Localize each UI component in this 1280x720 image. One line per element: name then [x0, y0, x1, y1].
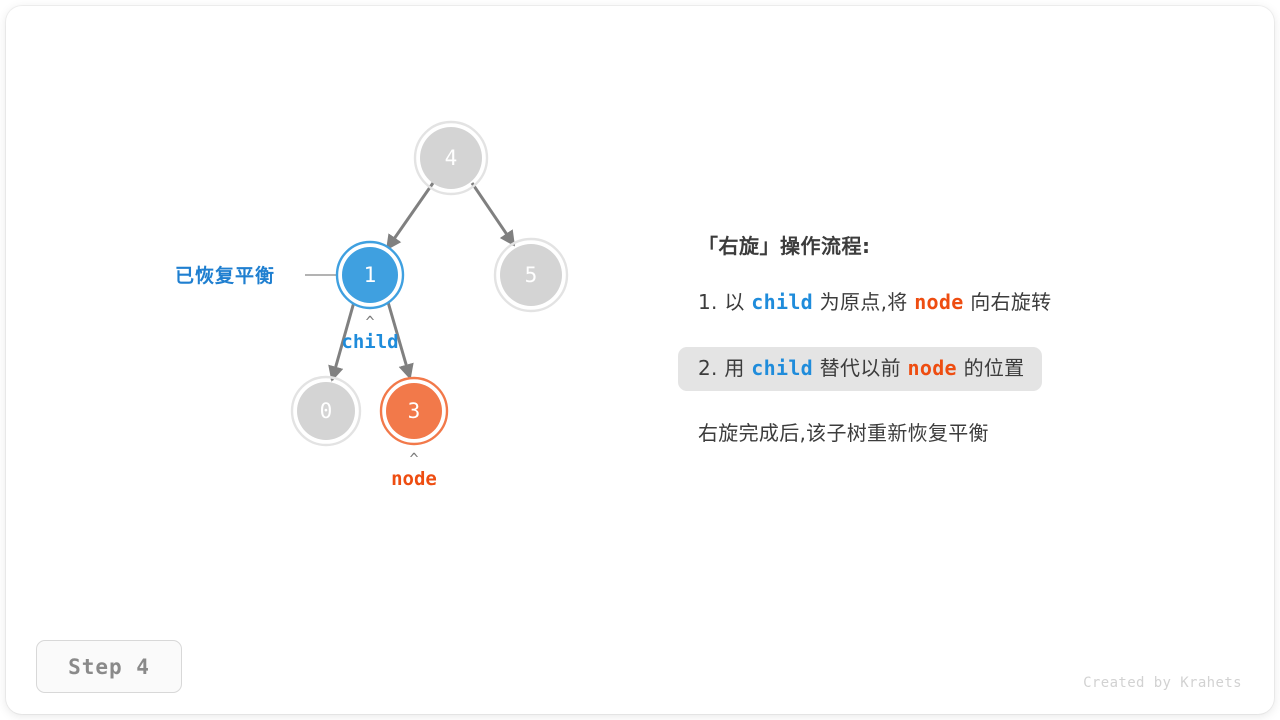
tree-node-1[interactable]: 1	[337, 242, 403, 308]
child-caret-icon: ^	[365, 313, 374, 331]
step-1-code-node: node	[914, 290, 963, 314]
node-annotation-label: node	[391, 468, 437, 490]
step-item-1: 1. 以 child 为原点,将 node 向右旋转	[678, 281, 1069, 325]
step-2-code-node: node	[908, 356, 957, 380]
panel-title: 「右旋」操作流程:	[698, 218, 1238, 259]
explanation-panel: 「右旋」操作流程: 1. 以 child 为原点,将 node 向右旋转 2. …	[678, 218, 1238, 446]
tree-node-0[interactable]: 0	[292, 377, 360, 445]
step-2-part-0: 2. 用	[698, 356, 751, 380]
rebalanced-side-label: 已恢复平衡	[175, 264, 275, 287]
step-item-2: 2. 用 child 替代以前 node 的位置	[678, 347, 1042, 391]
step-badge: Step 4	[36, 640, 182, 693]
edge-4-to-1	[387, 183, 433, 249]
panel-note: 右旋完成后,该子树重新恢复平衡	[698, 391, 1238, 446]
binary-tree-diagram: 4 5 0 1 3 ^ child	[0, 0, 700, 560]
step-1-part-0: 1. 以	[698, 290, 751, 314]
tree-node-1-value: 1	[364, 263, 377, 287]
tree-node-5[interactable]: 5	[495, 239, 567, 311]
tree-node-4-value: 4	[445, 146, 458, 170]
edge-4-to-5	[472, 183, 514, 245]
credit-text: Created by Krahets	[1083, 675, 1242, 691]
step-2-code-child: child	[751, 356, 813, 380]
tree-node-0-value: 0	[320, 399, 333, 423]
child-annotation-label: child	[341, 331, 398, 353]
tree-node-3[interactable]: 3	[381, 378, 447, 444]
step-1-part-4: 向右旋转	[964, 290, 1052, 314]
diagram-canvas: 4 5 0 1 3 ^ child	[0, 0, 1280, 720]
tree-node-3-value: 3	[408, 399, 421, 423]
node-caret-icon: ^	[409, 450, 418, 468]
tree-node-5-value: 5	[525, 263, 538, 287]
step-2-part-4: 的位置	[957, 356, 1025, 380]
tree-node-4[interactable]: 4	[415, 122, 487, 194]
step-2-part-2: 替代以前	[813, 356, 908, 380]
node-annotation: ^ node	[391, 450, 437, 490]
step-badge-label: Step 4	[68, 655, 150, 679]
step-1-code-child: child	[751, 290, 813, 314]
step-1-part-2: 为原点,将	[813, 290, 914, 314]
